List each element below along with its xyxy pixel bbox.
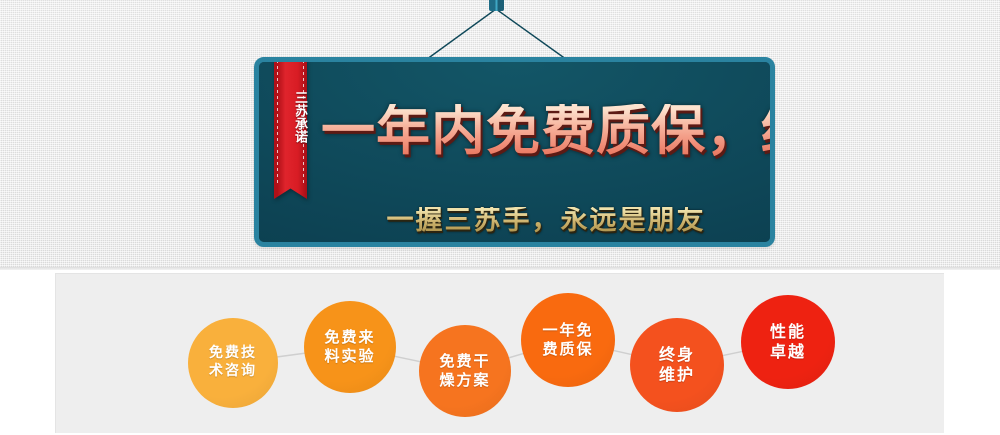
service-node-superior-perf[interactable]: 性能卓越 (741, 295, 835, 389)
promise-banner: 三苏承诺 一年内免费质保，终身维护 一握三苏手，永远是朋友 (254, 57, 775, 247)
service-node-line1: 免费来 (324, 328, 375, 347)
service-node-line2: 料实验 (324, 347, 375, 366)
promise-ribbon: 三苏承诺 (274, 62, 307, 198)
service-node-label: 性能卓越 (770, 322, 806, 363)
promo-banner-page: 三苏承诺 一年内免费质保，终身维护 一握三苏手，永远是朋友 免费技术咨询免费来料… (0, 0, 1000, 435)
service-node-label: 免费干燥方案 (439, 352, 490, 390)
banner-subline: 一握三苏手，永远是朋友 (321, 207, 770, 234)
service-node-line2: 术咨询 (209, 363, 257, 381)
service-node-free-material-test[interactable]: 免费来料实验 (304, 301, 396, 393)
service-node-line2: 卓越 (770, 342, 806, 362)
service-node-line2: 燥方案 (439, 371, 490, 390)
service-node-label: 免费来料实验 (324, 328, 375, 366)
service-node-layer: 免费技术咨询免费来料实验免费干燥方案一年免费质保终身维护性能卓越 (0, 273, 1000, 435)
service-node-label: 一年免费质保 (542, 321, 593, 359)
ribbon-label: 三苏承诺 (274, 64, 307, 170)
service-node-line1: 终身 (659, 345, 695, 365)
service-node-line1: 一年免 (542, 321, 593, 340)
service-node-free-drying-plan[interactable]: 免费干燥方案 (419, 325, 511, 417)
service-node-label: 终身维护 (659, 345, 695, 386)
banner-headline: 一年内免费质保，终身维护 (321, 104, 770, 158)
service-node-line1: 免费技 (209, 345, 257, 363)
service-node-line2: 维护 (659, 365, 695, 385)
banner-inner-surface: 三苏承诺 一年内免费质保，终身维护 一握三苏手，永远是朋友 (259, 62, 770, 242)
hanger-tab-icon (489, 0, 504, 11)
service-node-label: 免费技术咨询 (209, 345, 257, 381)
service-node-line2: 费质保 (542, 340, 593, 359)
service-node-one-year-warranty[interactable]: 一年免费质保 (521, 293, 615, 387)
service-node-line1: 免费干 (439, 352, 490, 371)
service-node-line1: 性能 (770, 322, 806, 342)
service-node-free-tech-consult[interactable]: 免费技术咨询 (188, 318, 278, 408)
service-node-lifetime-service[interactable]: 终身维护 (630, 318, 724, 412)
